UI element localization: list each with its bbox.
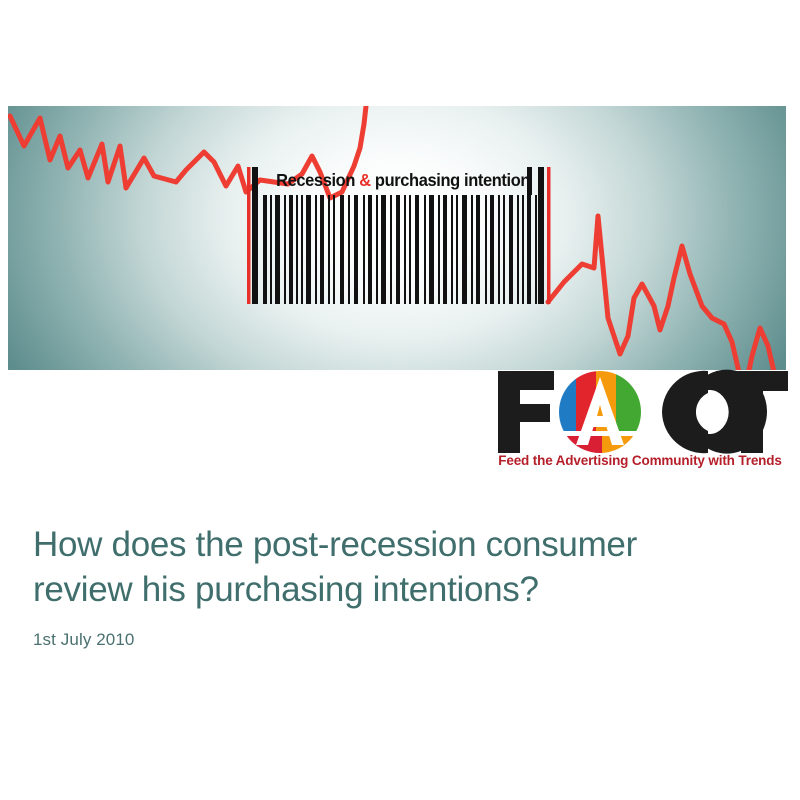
trendline-right — [548, 216, 786, 370]
barcode-caption-prefix: Recession — [276, 170, 359, 190]
barcode-caption: Recession & purchasing intention — [259, 167, 547, 193]
page-title: How does the post-recession consumer rev… — [33, 522, 763, 612]
barcode-guard-left — [247, 167, 251, 304]
logo-letter-a-icon — [554, 369, 644, 455]
barcode-caption-ampersand: & — [359, 170, 371, 190]
barcode-graphic: Recession & purchasing intention — [247, 167, 558, 304]
title-block: How does the post-recession consumer rev… — [33, 522, 763, 650]
fact-wordmark-icon — [492, 369, 788, 455]
page-title-line-1: How does the post-recession consumer — [33, 522, 763, 567]
title-slide: Recession & purchasing intention — [0, 0, 800, 800]
barcode-caption-suffix: purchasing intention — [371, 170, 530, 190]
barcode-guard-right — [547, 167, 551, 304]
logo-tagline: Feed the Advertising Community with Tren… — [492, 453, 788, 468]
fact-logo: Feed the Advertising Community with Tren… — [492, 369, 788, 477]
hero-banner-image: Recession & purchasing intention — [8, 106, 786, 370]
page-title-line-2: review his purchasing intentions? — [33, 567, 763, 612]
slide-date: 1st July 2010 — [33, 630, 763, 650]
logo-letter-f-icon — [498, 371, 554, 453]
